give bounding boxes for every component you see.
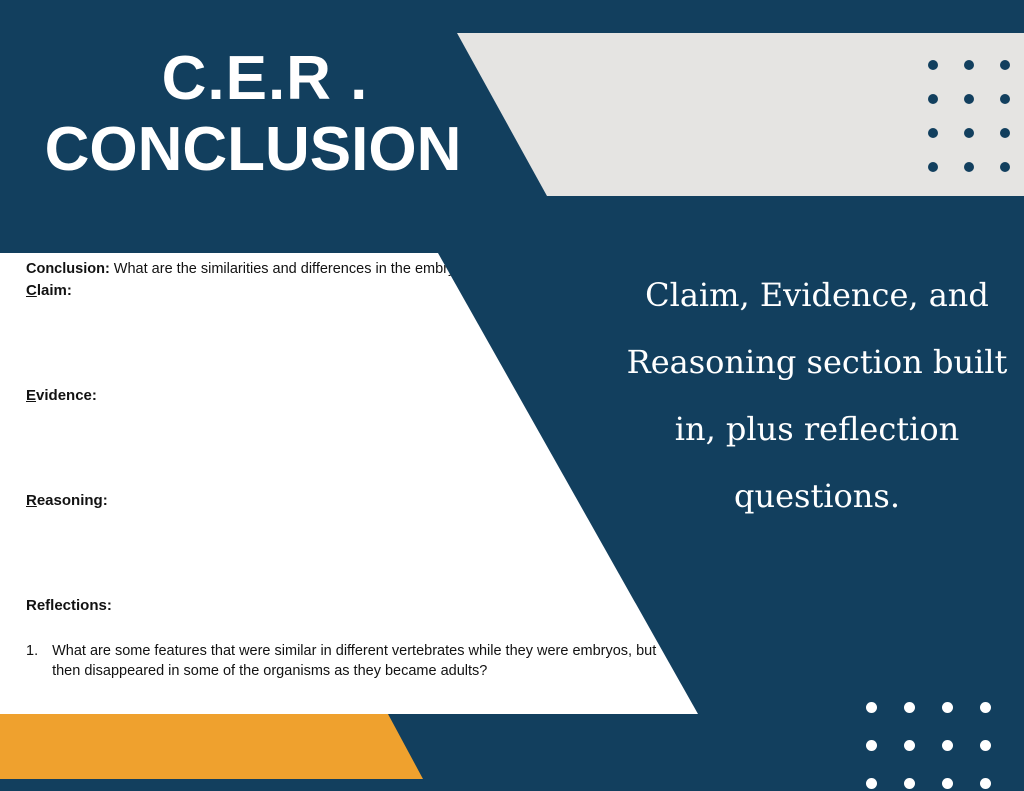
dot-icon: [866, 778, 877, 789]
dot-icon: [980, 702, 991, 713]
dot-icon: [904, 778, 915, 789]
worksheet-content: Conclusion: What are the similarities an…: [26, 260, 676, 681]
top-right-dot-pattern: [928, 60, 1024, 196]
bottom-right-dot-pattern: [866, 702, 1018, 791]
list-item-text: What are some features that were similar…: [52, 641, 666, 681]
dot-icon: [866, 740, 877, 751]
dot-icon: [1000, 128, 1010, 138]
claim-label-initial: C: [26, 282, 37, 299]
evidence-label-rest: vidence:: [36, 387, 97, 404]
dot-icon: [1000, 94, 1010, 104]
dot-icon: [942, 702, 953, 713]
claim-label: Claim:: [26, 281, 676, 300]
dot-icon: [928, 60, 938, 70]
slide-canvas: C.E.R . CONCLUSION Conclusion: What are …: [0, 0, 1024, 791]
dot-icon: [980, 740, 991, 751]
page-title: C.E.R . CONCLUSION: [0, 44, 520, 186]
dot-icon: [928, 128, 938, 138]
reasoning-label-rest: easoning:: [37, 492, 108, 509]
conclusion-question-label: Conclusion:: [26, 261, 110, 277]
dot-icon: [904, 740, 915, 751]
dot-icon: [942, 740, 953, 751]
dot-icon: [964, 60, 974, 70]
orange-accent-shape: [0, 710, 460, 791]
dot-icon: [1000, 60, 1010, 70]
title-line-2: CONCLUSION: [0, 114, 520, 186]
reasoning-answer-space[interactable]: [26, 510, 676, 596]
reflections-label: Reflections:: [26, 596, 676, 615]
title-line-1: C.E.R .: [10, 44, 520, 114]
conclusion-question-text: What are the similarities and difference…: [110, 261, 622, 277]
evidence-answer-space[interactable]: [26, 405, 676, 491]
claim-label-rest: laim:: [37, 282, 72, 299]
conclusion-question: Conclusion: What are the similarities an…: [26, 260, 686, 279]
list-item-number: 1.: [26, 641, 38, 681]
evidence-label: Evidence:: [26, 386, 676, 405]
dot-icon: [1000, 162, 1010, 172]
dot-icon: [928, 162, 938, 172]
claim-answer-space[interactable]: [26, 300, 676, 386]
evidence-label-initial: E: [26, 387, 36, 404]
dot-icon: [942, 778, 953, 789]
reasoning-label-initial: R: [26, 492, 37, 509]
dot-icon: [964, 162, 974, 172]
dot-icon: [964, 94, 974, 104]
dot-icon: [928, 94, 938, 104]
dot-icon: [980, 778, 991, 789]
dot-icon: [964, 128, 974, 138]
dot-icon: [866, 702, 877, 713]
dot-icon: [904, 702, 915, 713]
worksheet-document-panel: Conclusion: What are the similarities an…: [0, 250, 710, 718]
reasoning-label: Reasoning:: [26, 491, 676, 510]
caption-text: Claim, Evidence, and Reasoning section b…: [626, 262, 1008, 530]
list-item: 1. What are some features that were simi…: [26, 641, 666, 681]
